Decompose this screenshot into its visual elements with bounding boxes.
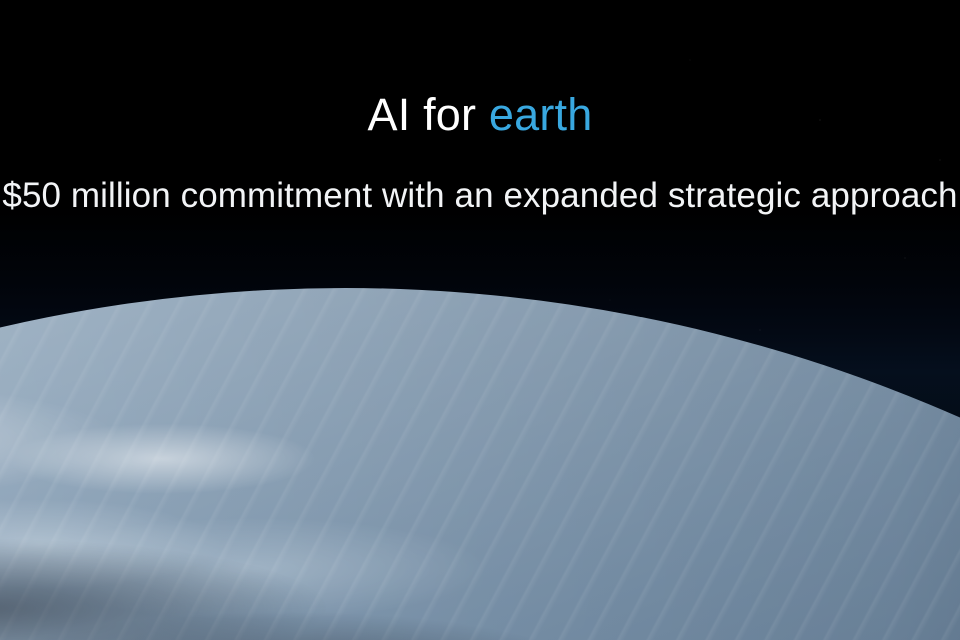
slide-canvas: AI for earth $50 million commitment with… xyxy=(0,0,960,640)
subtitle: $50 million commitment with an expanded … xyxy=(0,176,960,216)
title-lead: AI for xyxy=(367,89,488,140)
page-title: AI for earth xyxy=(0,90,960,140)
earth-globe xyxy=(0,288,960,640)
title-accent: earth xyxy=(489,89,593,140)
ocean-shadow-layer xyxy=(0,288,960,640)
